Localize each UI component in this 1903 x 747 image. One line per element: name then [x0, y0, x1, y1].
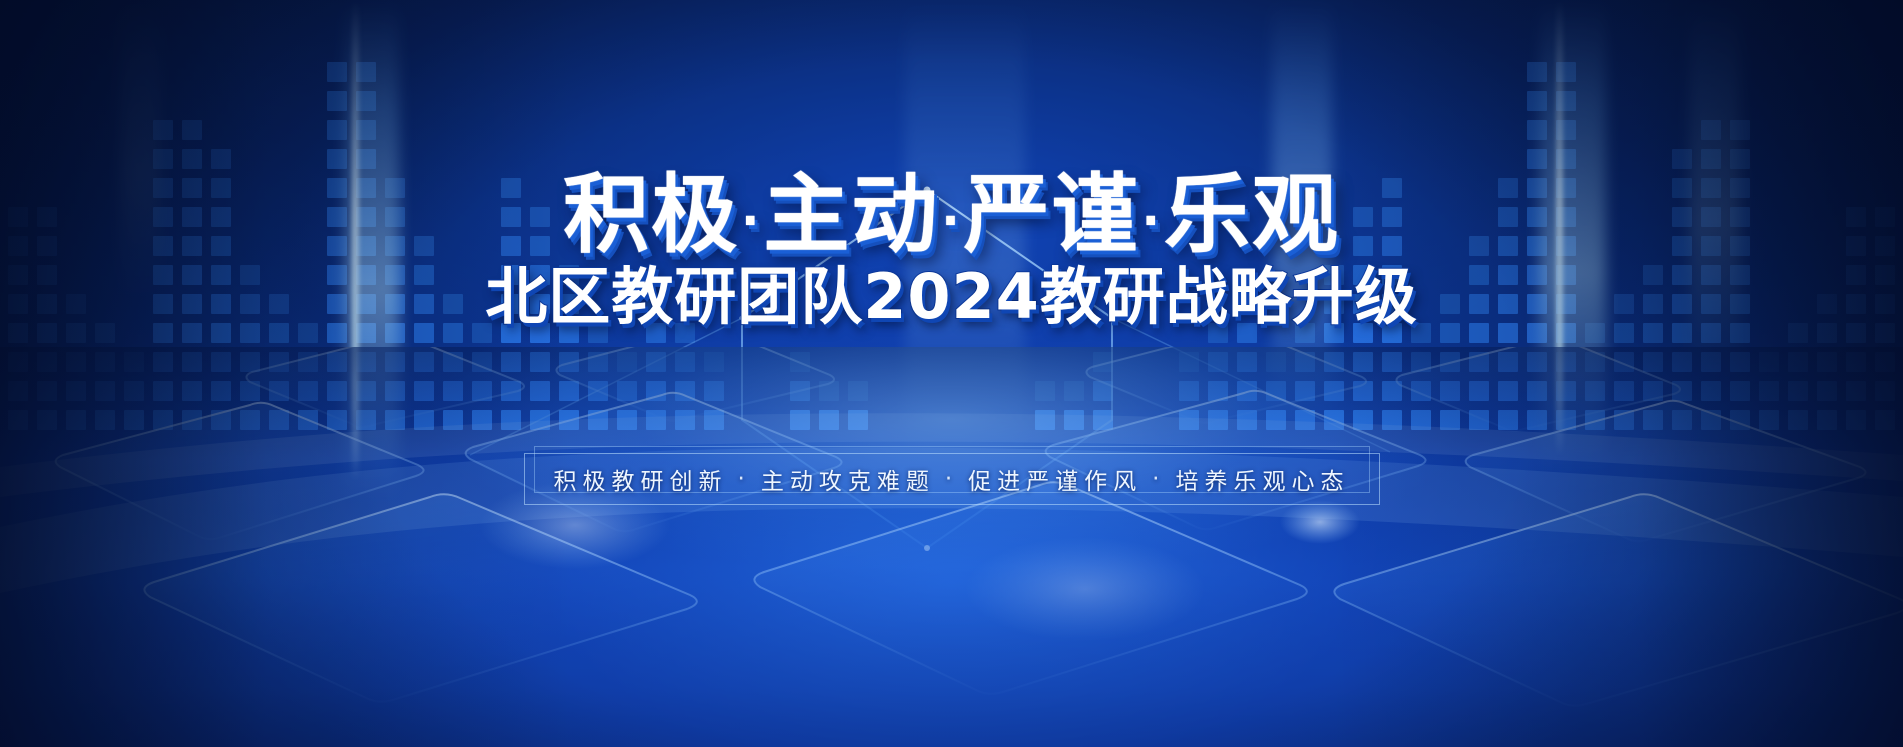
title-word-1: 积极 — [563, 165, 739, 265]
title-word-2: 主动 — [763, 165, 939, 265]
title-separator-3: · — [1140, 193, 1164, 249]
banner-tagline: 积极教研创新 · 主动攻克难题 · 促进严谨作风 · 培养乐观心态 — [524, 453, 1380, 505]
title-word-3: 严谨 — [964, 165, 1140, 265]
tagline-separator-1: · — [728, 466, 761, 492]
tagline-item-1: 积极教研创新 — [554, 462, 728, 496]
banner-subtitle: 北区教研团队2024教研战略升级 — [0, 266, 1903, 328]
banner-content: 积极·主动·严谨·乐观 北区教研团队2024教研战略升级 积极教研创新 · 主动… — [0, 0, 1903, 747]
tagline-separator-3: · — [1142, 466, 1175, 492]
tagline-item-2: 主动攻克难题 — [761, 462, 935, 496]
tagline-frame: 积极教研创新 · 主动攻克难题 · 促进严谨作风 · 培养乐观心态 — [524, 453, 1380, 505]
banner-root: 积极·主动·严谨·乐观 北区教研团队2024教研战略升级 积极教研创新 · 主动… — [0, 0, 1903, 747]
tagline-item-3: 促进严谨作风 — [968, 462, 1142, 496]
banner-main-title: 积极·主动·严谨·乐观 — [0, 172, 1903, 258]
title-word-4: 乐观 — [1164, 165, 1340, 265]
title-separator-2: · — [939, 193, 963, 249]
tagline-item-4: 培养乐观心态 — [1175, 462, 1349, 496]
title-separator-1: · — [739, 193, 763, 249]
tagline-separator-2: · — [935, 466, 968, 492]
